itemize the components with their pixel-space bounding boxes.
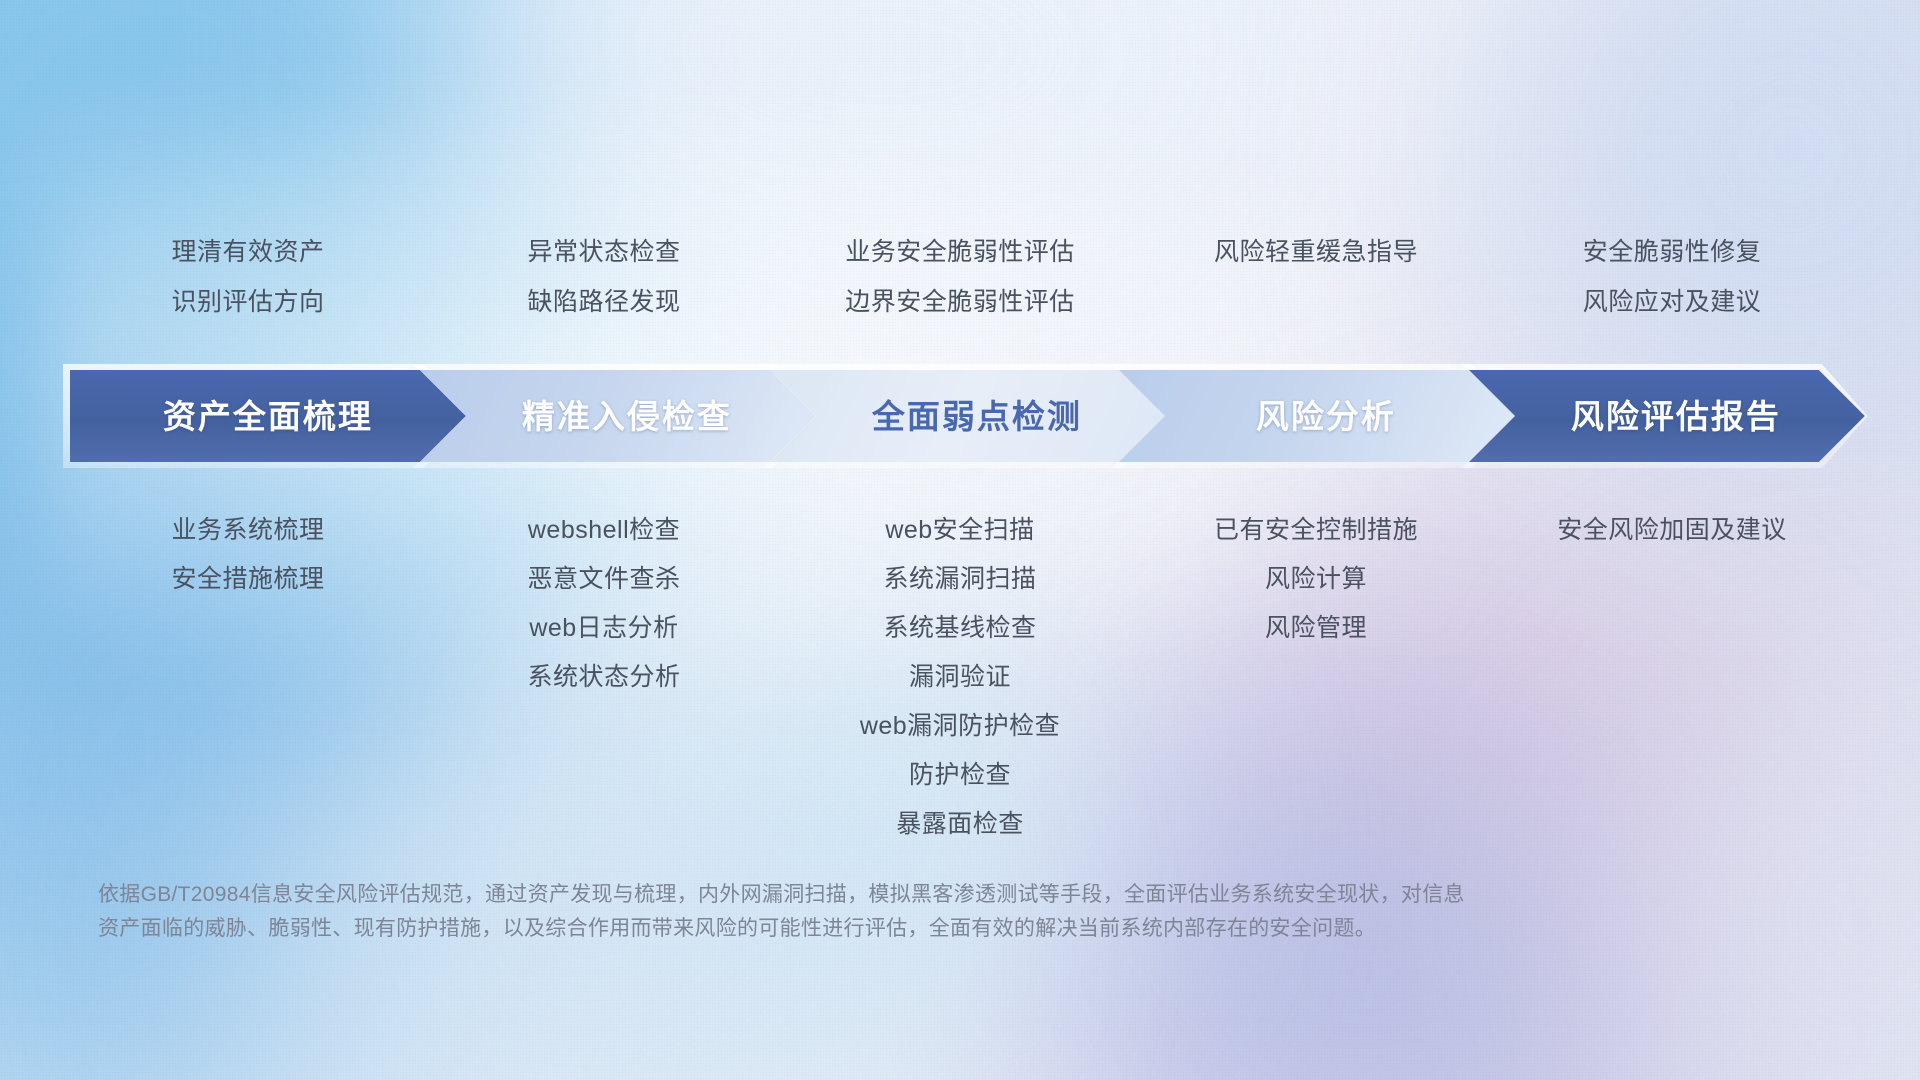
top-descriptor-row: 理清有效资产识别评估方向异常状态检查缺陷路径发现业务安全脆弱性评估边界安全脆弱性… [70, 240, 1850, 315]
chevron-band: 资产全面梳理精准入侵检查全面弱点检测风险分析风险评估报告 [70, 370, 1865, 462]
footer-line-2: 资产面临的威胁、脆弱性、现有防护措施，以及综合作用而带来风险的可能性进行评估，全… [98, 912, 1658, 946]
bottom-detail-item: 系统状态分析 [527, 665, 680, 690]
bottom-detail-item: 风险管理 [1265, 616, 1367, 641]
bottom-detail-item: 已有安全控制措施 [1214, 518, 1418, 543]
top-descriptor-group-4: 风险轻重缓急指导 [1138, 240, 1494, 315]
top-descriptor-item: 缺陷路径发现 [527, 290, 680, 315]
chevron-stage-label: 全面弱点检测 [872, 400, 1082, 433]
bottom-detail-item: 业务系统梳理 [171, 518, 324, 543]
chevron-stage-label: 精准入侵检查 [522, 400, 732, 433]
bottom-detail-item: 恶意文件查杀 [527, 567, 680, 592]
bottom-detail-item: web漏洞防护检查 [860, 714, 1060, 739]
bottom-detail-group-4: 已有安全控制措施风险计算风险管理 [1138, 518, 1494, 665]
footer-description: 依据GB/T20984信息安全风险评估规范，通过资产发现与梳理，内外网漏洞扫描，… [98, 878, 1658, 946]
chevron-stage-label: 风险分析 [1256, 400, 1396, 433]
top-descriptor-group-3: 业务安全脆弱性评估边界安全脆弱性评估 [782, 240, 1138, 315]
bottom-detail-item: 暴露面检查 [896, 812, 1024, 837]
bottom-detail-group-2: webshell检查恶意文件查杀web日志分析系统状态分析 [426, 518, 782, 714]
bottom-detail-item: 安全措施梳理 [171, 567, 324, 592]
top-descriptor-group-5: 安全脆弱性修复风险应对及建议 [1494, 240, 1850, 315]
bottom-detail-group-1: 业务系统梳理安全措施梳理 [70, 518, 426, 616]
top-descriptor-item: 风险轻重缓急指导 [1214, 240, 1418, 265]
chevron-stage-4[interactable]: 风险分析 [1119, 370, 1515, 462]
top-descriptor-item: 安全脆弱性修复 [1583, 240, 1762, 265]
bottom-detail-item: 系统基线检查 [883, 616, 1036, 641]
top-descriptor-item: 异常状态检查 [527, 240, 680, 265]
top-descriptor-group-1: 理清有效资产识别评估方向 [70, 240, 426, 315]
top-descriptor-item: 业务安全脆弱性评估 [845, 240, 1075, 265]
top-descriptor-item: 风险应对及建议 [1583, 290, 1762, 315]
bottom-detail-item: webshell检查 [528, 518, 680, 543]
footer-line-1: 依据GB/T20984信息安全风险评估规范，通过资产发现与梳理，内外网漏洞扫描，… [98, 878, 1658, 912]
top-descriptor-item: 理清有效资产 [171, 240, 324, 265]
bottom-detail-group-3: web安全扫描系统漏洞扫描系统基线检查漏洞验证web漏洞防护检查防护检查暴露面检… [782, 518, 1138, 861]
bottom-detail-item: 防护检查 [909, 763, 1011, 788]
bottom-detail-item: web日志分析 [529, 616, 678, 641]
bottom-detail-item: 漏洞验证 [909, 665, 1011, 690]
bottom-detail-item: 安全风险加固及建议 [1557, 518, 1787, 543]
chevron-stage-label: 风险评估报告 [1571, 400, 1781, 433]
top-descriptor-group-2: 异常状态检查缺陷路径发现 [426, 240, 782, 315]
bottom-detail-item: 系统漏洞扫描 [883, 567, 1036, 592]
chevron-stage-2[interactable]: 精准入侵检查 [420, 370, 816, 462]
chevron-stage-1[interactable]: 资产全面梳理 [70, 370, 466, 462]
bottom-detail-item: web安全扫描 [885, 518, 1034, 543]
bottom-detail-group-5: 安全风险加固及建议 [1494, 518, 1850, 567]
chevron-stage-label: 资产全面梳理 [163, 400, 373, 433]
chevron-stage-3[interactable]: 全面弱点检测 [770, 370, 1166, 462]
bottom-detail-item: 风险计算 [1265, 567, 1367, 592]
bottom-detail-row: 业务系统梳理安全措施梳理webshell检查恶意文件查杀web日志分析系统状态分… [70, 518, 1850, 861]
process-diagram: 理清有效资产识别评估方向异常状态检查缺陷路径发现业务安全脆弱性评估边界安全脆弱性… [0, 0, 1920, 1080]
top-descriptor-item: 识别评估方向 [171, 290, 324, 315]
chevron-stage-5[interactable]: 风险评估报告 [1469, 370, 1865, 462]
top-descriptor-item: 边界安全脆弱性评估 [845, 290, 1075, 315]
